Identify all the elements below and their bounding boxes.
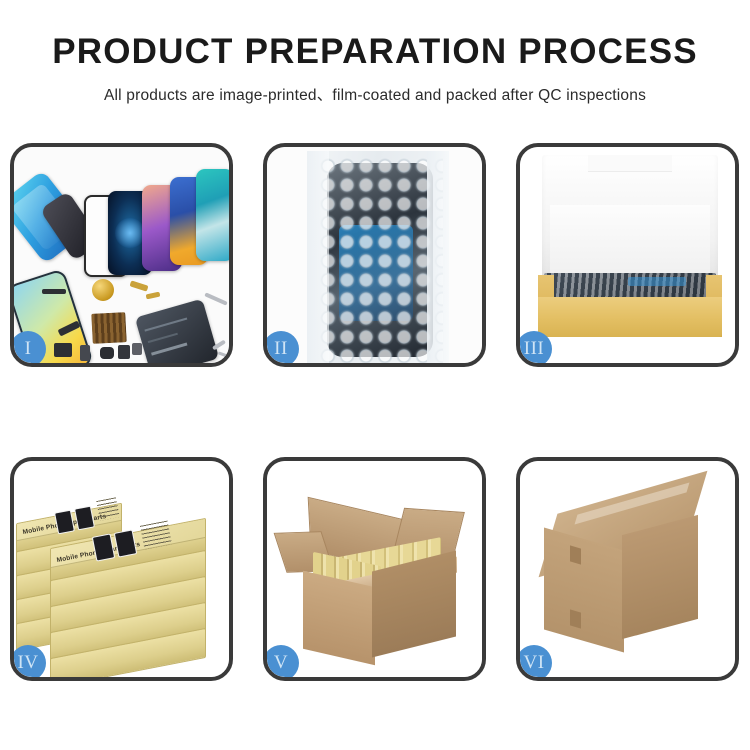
screw-part xyxy=(218,351,228,357)
teal-gradient-phone xyxy=(196,169,229,261)
step-image-2: II xyxy=(267,147,482,363)
tweezers-tool xyxy=(204,292,228,305)
sensor-part xyxy=(132,343,142,355)
step-image-1: I xyxy=(14,147,229,363)
carton-face-left xyxy=(303,571,375,666)
step-image-3: III xyxy=(520,147,735,363)
step-image-6: VI xyxy=(520,461,735,677)
sealed-carton-illustration xyxy=(520,461,735,677)
sealed-carton-front xyxy=(544,528,624,653)
box-art-text-back xyxy=(96,497,119,520)
step-badge-4: IV xyxy=(14,645,46,677)
step-badge-1: I xyxy=(14,331,46,363)
sim-tray-part xyxy=(54,343,72,357)
step-panel-1: I xyxy=(10,143,233,367)
step-panel-2: II xyxy=(263,143,486,367)
vibration-motor-part xyxy=(92,279,114,301)
camera-part xyxy=(118,345,130,359)
earpiece-part xyxy=(42,289,66,294)
mailer-front-panel xyxy=(538,297,722,337)
button-part xyxy=(80,345,90,361)
connector-grid-part xyxy=(91,312,127,344)
bubble-outlines xyxy=(319,157,443,363)
step-panel-3: III xyxy=(516,143,739,367)
step-image-5: V xyxy=(267,461,482,677)
process-steps-grid: I II xyxy=(10,143,740,681)
flex-cable-part-b xyxy=(146,292,161,300)
step-badge-2: II xyxy=(267,331,299,363)
step-badge-3: III xyxy=(520,331,552,363)
bubble-wrap-illustration xyxy=(267,147,482,363)
sealing-tape-front-upper xyxy=(570,545,581,564)
page-header: PRODUCT PREPARATION PROCESS All products… xyxy=(0,0,750,105)
step-panel-5: V xyxy=(263,457,486,681)
mailer-foam-liner xyxy=(550,205,710,277)
flex-cable-part-a xyxy=(130,280,149,291)
product-preparation-page: PRODUCT PREPARATION PROCESS All products… xyxy=(0,0,750,750)
page-title: PRODUCT PREPARATION PROCESS xyxy=(0,34,750,71)
step-badge-6: VI xyxy=(520,645,552,677)
page-subtitle: All products are image-printed、film-coat… xyxy=(0,83,750,105)
pouch-seal-left xyxy=(307,151,329,363)
pouch-seal-right xyxy=(427,151,449,363)
phone-parts-illustration xyxy=(14,147,229,363)
retail-box-stack-illustration: Mobile Phone Spare Parts Mobile Phone Sp… xyxy=(14,461,229,677)
logic-board xyxy=(135,299,219,363)
step-badge-5: V xyxy=(267,645,299,677)
open-carton-illustration xyxy=(267,461,482,677)
speaker-part xyxy=(100,347,114,359)
sealing-tape-front-lower xyxy=(570,609,581,628)
sealed-carton-side xyxy=(622,515,698,639)
step-panel-6: VI xyxy=(516,457,739,681)
step-panel-4: Mobile Phone Spare Parts Mobile Phone Sp… xyxy=(10,457,233,681)
step-image-4: Mobile Phone Spare Parts Mobile Phone Sp… xyxy=(14,461,229,677)
mailer-box-illustration xyxy=(520,147,735,363)
